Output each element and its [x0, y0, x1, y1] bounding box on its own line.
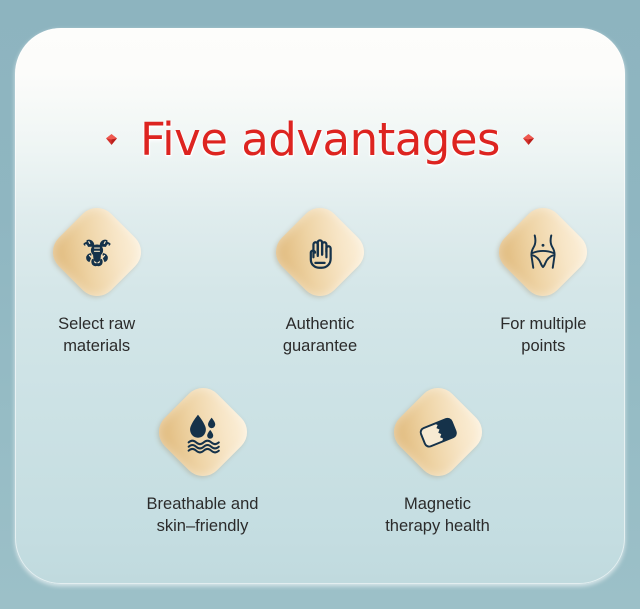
feature-card: Five advantages: [15, 28, 625, 584]
promo-banner: Five advantages: [0, 0, 640, 609]
page-title: Five advantages: [140, 117, 500, 162]
feature-tile: [268, 200, 372, 304]
feature-tile: [45, 200, 149, 304]
feature-tile: [386, 380, 490, 484]
feature-select-raw-materials[interactable]: Select raw materials: [15, 200, 178, 358]
open-palm-hand-icon: [292, 224, 348, 280]
feature-label: Select raw materials: [58, 314, 135, 358]
feature-magnetic-therapy-health[interactable]: Magnetic therapy health: [350, 380, 525, 538]
feature-breathable-skin-friendly[interactable]: Breathable and skin–friendly: [115, 380, 290, 538]
feature-label: For multiple points: [500, 314, 586, 358]
magnet-patch-icon: [410, 404, 466, 460]
feature-authentic-guarantee[interactable]: Authentic guarantee: [238, 200, 401, 358]
diamond-gem-icon-right: [522, 133, 535, 146]
feature-label: Breathable and skin–friendly: [147, 494, 259, 538]
title-row: Five advantages: [15, 108, 625, 170]
feature-row-bottom: Breathable and skin–friendly: [15, 380, 625, 538]
ginger-root-icon: [69, 224, 125, 280]
feature-for-multiple-points[interactable]: For multiple points: [462, 200, 625, 358]
feature-label: Authentic guarantee: [283, 314, 357, 358]
diamond-gem-icon-left: [105, 133, 118, 146]
water-drop-waves-icon: [175, 404, 231, 460]
belly-waist-icon: [515, 224, 571, 280]
feature-label: Magnetic therapy health: [385, 494, 490, 538]
feature-tile: [491, 200, 595, 304]
feature-row-top: Select raw materials: [15, 200, 625, 358]
feature-tile: [151, 380, 255, 484]
